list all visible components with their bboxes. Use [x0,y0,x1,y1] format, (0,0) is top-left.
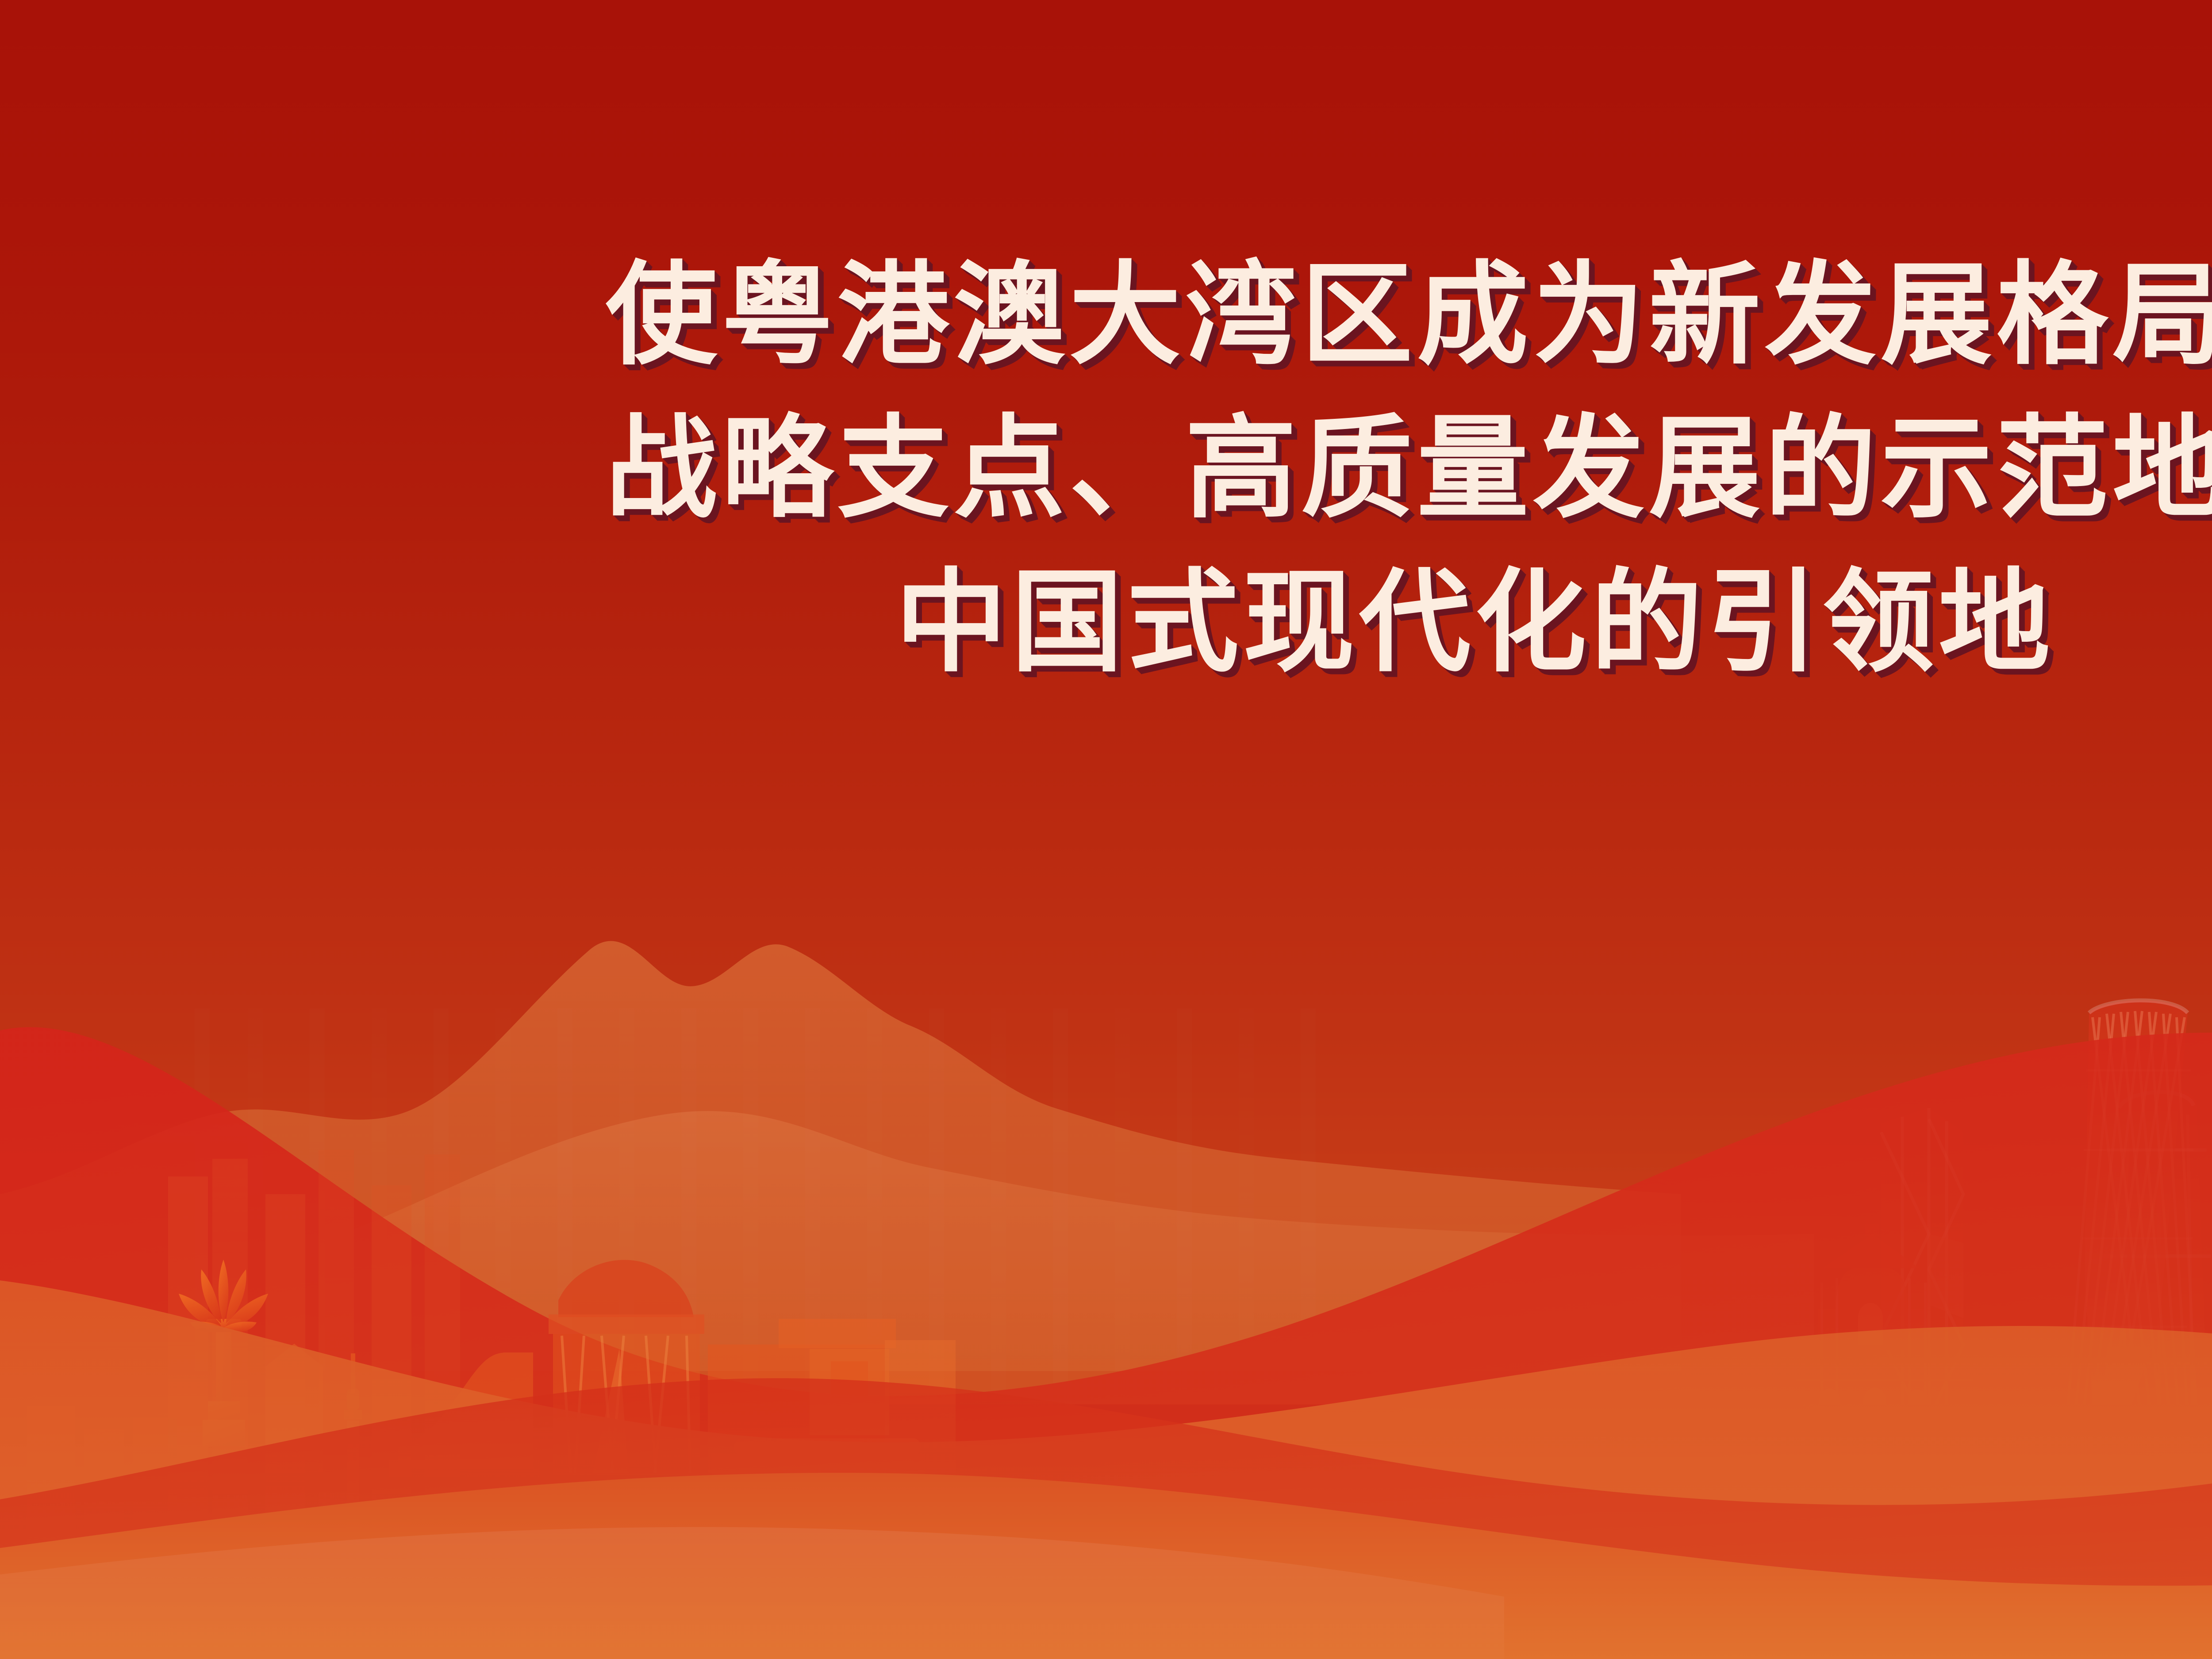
poster-root: 使粤港澳大湾区成为新发展格局的 战略支点、高质量发展的示范地、 中国式现代化的引… [0,0,2212,1659]
scenery-illustration [0,0,2212,1659]
